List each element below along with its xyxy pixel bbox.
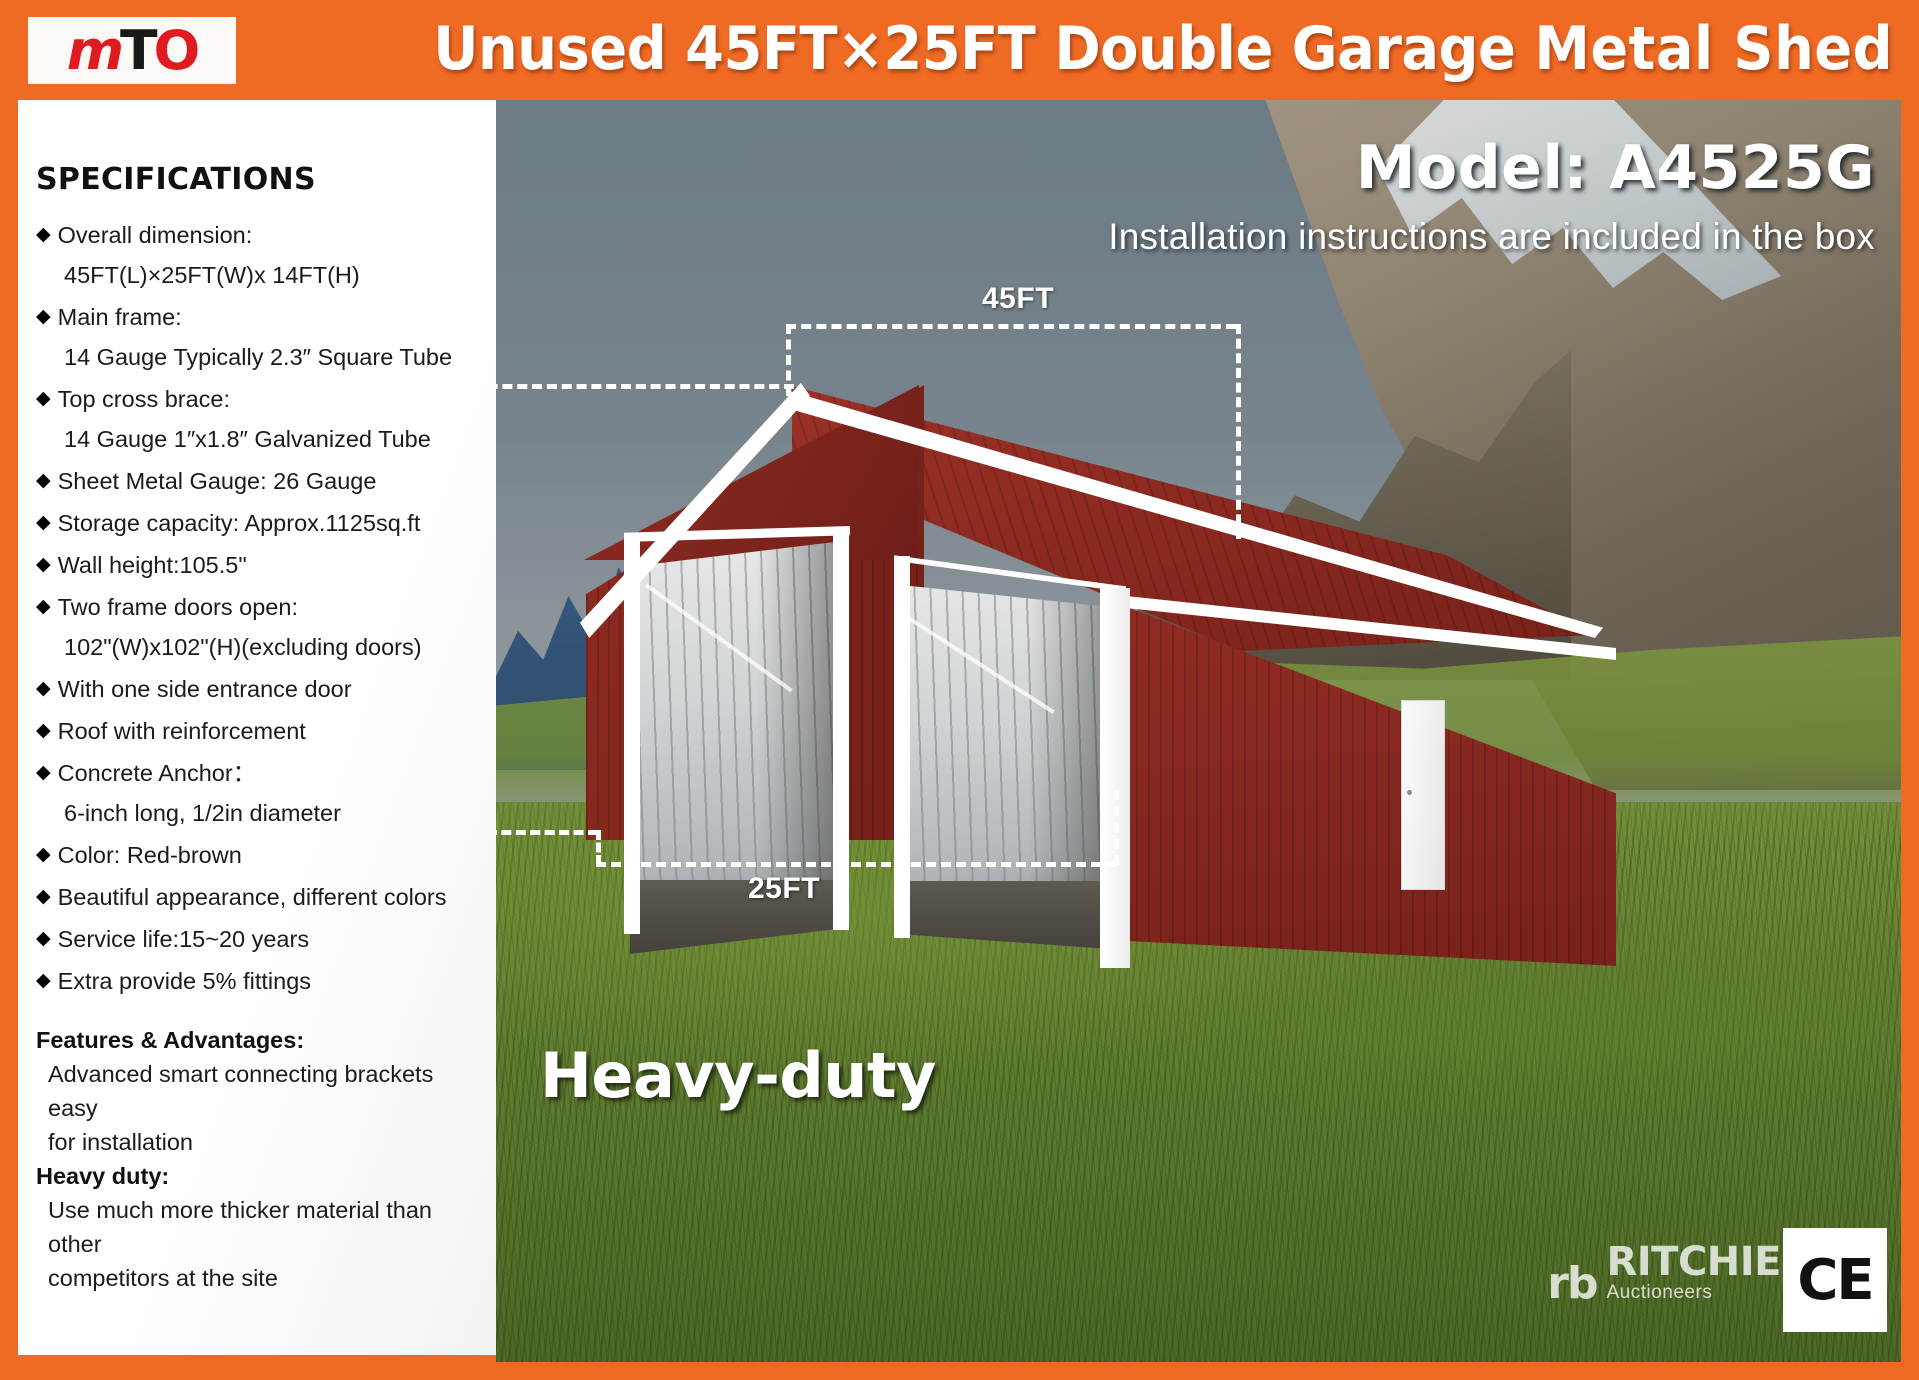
- spec-item-label-row: ◆Concrete Anchor：: [36, 753, 480, 793]
- spec-item: ◆Roof with reinforcement: [36, 711, 480, 751]
- spec-item-detail: 6-inch long, 1/2in diameter: [36, 793, 480, 833]
- spec-item-label-row: ◆Service life:15~20 years: [36, 919, 480, 959]
- heavy-duty-body-line-1: Use much more thicker material than othe…: [36, 1193, 480, 1261]
- spec-item-label: Extra provide 5% fittings: [58, 961, 311, 1001]
- heavy-duty-callout: Heavy-duty: [540, 1039, 936, 1112]
- model-number: Model: A4525G: [1356, 134, 1875, 202]
- specifications-list: ◆Overall dimension:45FT(L)×25FT(W)x 14FT…: [36, 215, 480, 1001]
- mito-logo-text: mTO: [67, 24, 197, 78]
- ce-mark-text: CE: [1797, 1248, 1872, 1313]
- side-door-knob: [1407, 790, 1412, 795]
- dimension-line-height-top: [496, 384, 794, 389]
- features-advantages-section: Features & Advantages: Advanced smart co…: [36, 1023, 480, 1295]
- diamond-bullet-icon: ◆: [36, 877, 51, 917]
- diamond-bullet-icon: ◆: [36, 669, 51, 709]
- product-photo: 45FT 25FT 14FT Model: A4525G Installatio…: [496, 100, 1901, 1362]
- diamond-bullet-icon: ◆: [36, 379, 51, 419]
- spec-item-detail: 45FT(L)×25FT(W)x 14FT(H): [36, 255, 480, 295]
- diamond-bullet-icon: ◆: [36, 461, 51, 501]
- advertisement-page: mTO Unused 45FT×25FT Double Garage Metal…: [0, 0, 1919, 1380]
- spec-item-detail: 14 Gauge 1″x1.8″ Galvanized Tube: [36, 419, 480, 459]
- spec-item-label-row: ◆Wall height:105.5": [36, 545, 480, 585]
- ritchie-bros-watermark: rb RITCHIE Auctioneers: [1547, 1242, 1781, 1304]
- spec-item-label-row: ◆Roof with reinforcement: [36, 711, 480, 751]
- spec-item-label: Roof with reinforcement: [58, 711, 306, 751]
- diamond-bullet-icon: ◆: [36, 215, 51, 255]
- spec-item-label: Color: Red-brown: [58, 835, 242, 875]
- features-heading: Features & Advantages:: [36, 1023, 480, 1057]
- spec-item-label: Service life:15~20 years: [58, 919, 309, 959]
- spec-item: ◆Storage capacity: Approx.1125sq.ft: [36, 503, 480, 543]
- spec-item-label-row: ◆Extra provide 5% fittings: [36, 961, 480, 1001]
- diamond-bullet-icon: ◆: [36, 297, 51, 337]
- installation-note: Installation instructions are included i…: [1108, 215, 1875, 259]
- spec-item: ◆Beautiful appearance, different colors: [36, 877, 480, 917]
- spec-item-detail: 102"(W)x102"(H)(excluding doors): [36, 627, 480, 667]
- specifications-panel: SPECIFICATIONS ◆Overall dimension:45FT(L…: [18, 100, 496, 1355]
- diamond-bullet-icon: ◆: [36, 503, 51, 543]
- rb-logo-names: RITCHIE Auctioneers: [1606, 1242, 1781, 1304]
- roof-ridge-trim: [788, 383, 1603, 638]
- rb-ritchie-text: RITCHIE: [1606, 1242, 1781, 1282]
- spec-item-label-row: ◆Top cross brace:: [36, 379, 480, 419]
- spec-item: ◆Wall height:105.5": [36, 545, 480, 585]
- spec-item: ◆Color: Red-brown: [36, 835, 480, 875]
- spec-item-label: Two frame doors open:: [58, 587, 298, 627]
- diamond-bullet-icon: ◆: [36, 919, 51, 959]
- features-body-line-1: Advanced smart connecting brackets easy: [36, 1057, 480, 1125]
- spec-item-label-row: ◆Two frame doors open:: [36, 587, 480, 627]
- spec-item-label: With one side entrance door: [58, 669, 352, 709]
- diamond-bullet-icon: ◆: [36, 711, 51, 751]
- spec-item: ◆Service life:15~20 years: [36, 919, 480, 959]
- corner-post-white: [1100, 588, 1130, 968]
- specifications-heading: SPECIFICATIONS: [36, 162, 480, 197]
- features-body-line-2: for installation: [36, 1125, 480, 1159]
- spec-item-label: Storage capacity: Approx.1125sq.ft: [58, 503, 421, 543]
- spec-item-label-row: ◆Storage capacity: Approx.1125sq.ft: [36, 503, 480, 543]
- spec-item-label: Wall height:105.5": [58, 545, 247, 585]
- diamond-bullet-icon: ◆: [36, 835, 51, 875]
- logo-letter-o: O: [154, 19, 197, 82]
- spec-item-label-row: ◆With one side entrance door: [36, 669, 480, 709]
- dimension-line-base: [496, 830, 598, 835]
- page-title-product: Metal Shed: [1534, 14, 1893, 84]
- spec-item-detail: 14 Gauge Typically 2.3″ Square Tube: [36, 337, 480, 377]
- heavy-duty-body-line-2: competitors at the site: [36, 1261, 480, 1295]
- spec-item-label-row: ◆Overall dimension:: [36, 215, 480, 255]
- spec-item: ◆Extra provide 5% fittings: [36, 961, 480, 1001]
- spec-item-label-row: ◆Beautiful appearance, different colors: [36, 877, 480, 917]
- spec-item-label-row: ◆Main frame:: [36, 297, 480, 337]
- header-bar: mTO Unused 45FT×25FT Double Garage Metal…: [0, 0, 1919, 100]
- diamond-bullet-icon: ◆: [36, 587, 51, 627]
- spec-item-label: Overall dimension:: [58, 215, 253, 255]
- diamond-bullet-icon: ◆: [36, 753, 51, 793]
- page-title-main: Unused 45FT×25FT Double Garage: [433, 14, 1534, 84]
- spec-item-label: Main frame:: [58, 297, 182, 337]
- rake-trim-left: [580, 383, 810, 638]
- dimension-tick-width-right: [1114, 790, 1119, 865]
- logo-letter-t: T: [121, 19, 155, 82]
- spec-item: ◆Sheet Metal Gauge: 26 Gauge: [36, 461, 480, 501]
- ce-mark-badge: CE: [1783, 1228, 1887, 1332]
- logo-letter-m: m: [67, 19, 120, 82]
- spec-item: ◆Two frame doors open:102"(W)x102"(H)(ex…: [36, 587, 480, 667]
- dimension-label-width: 25FT: [748, 872, 820, 906]
- dimension-line-width: [596, 862, 1116, 867]
- side-entrance-door: [1401, 700, 1445, 890]
- spec-item-label-row: ◆Color: Red-brown: [36, 835, 480, 875]
- bay-right-floor: [894, 881, 1110, 949]
- mito-logo: mTO: [28, 17, 236, 84]
- dimension-label-length: 45FT: [982, 282, 1054, 316]
- spec-item-label-row: ◆Sheet Metal Gauge: 26 Gauge: [36, 461, 480, 501]
- spec-item-label: Sheet Metal Gauge: 26 Gauge: [58, 461, 377, 501]
- spec-item: ◆Main frame:14 Gauge Typically 2.3″ Squa…: [36, 297, 480, 377]
- spec-item: ◆Overall dimension:45FT(L)×25FT(W)x 14FT…: [36, 215, 480, 295]
- dimension-tick-length-right: [1236, 324, 1241, 539]
- rb-auctioneers-text: Auctioneers: [1606, 1282, 1781, 1304]
- spec-item-label: Top cross brace:: [58, 379, 230, 419]
- spec-item: ◆Top cross brace:14 Gauge 1″x1.8″ Galvan…: [36, 379, 480, 459]
- dimension-line-length-top: [786, 324, 1236, 329]
- metal-shed-building: [496, 100, 1901, 1362]
- spec-item: ◆With one side entrance door: [36, 669, 480, 709]
- spec-item-label: Beautiful appearance, different colors: [58, 877, 447, 917]
- diamond-bullet-icon: ◆: [36, 961, 51, 1001]
- spec-item: ◆Concrete Anchor：6-inch long, 1/2in diam…: [36, 753, 480, 833]
- page-title: Unused 45FT×25FT Double Garage Metal She…: [433, 13, 1847, 85]
- diamond-bullet-icon: ◆: [36, 545, 51, 585]
- rb-logo-mark: rb: [1547, 1264, 1596, 1304]
- dimension-tick-width-left: [596, 830, 601, 865]
- heavy-duty-heading: Heavy duty:: [36, 1159, 480, 1193]
- spec-item-label: Concrete Anchor：: [58, 753, 257, 793]
